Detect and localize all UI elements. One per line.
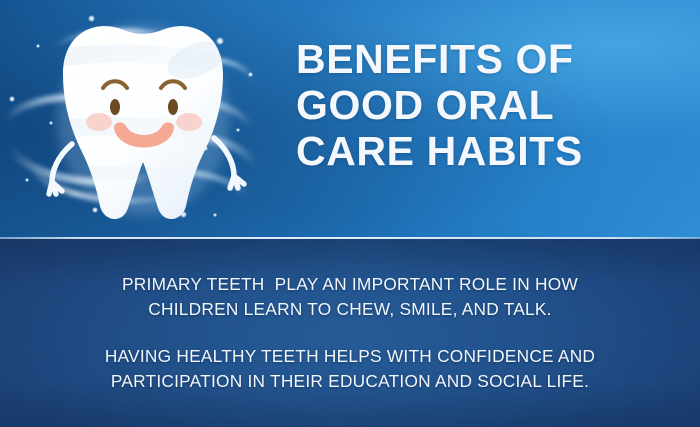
title-line-3: CARE HABITS — [296, 128, 676, 174]
right-eye-icon — [168, 99, 178, 115]
section-divider — [0, 237, 700, 239]
title-line-2: GOOD ORAL — [296, 82, 676, 128]
fact-list: PRIMARY TEETH PLAY AN IMPORTANT ROLE IN … — [0, 239, 700, 427]
tooth-mascot — [18, 10, 268, 238]
right-cheek-blush — [176, 113, 202, 131]
left-eye-icon — [110, 99, 120, 115]
left-cheek-blush — [86, 113, 112, 131]
page-title: BENEFITS OF GOOD ORAL CARE HABITS — [296, 36, 676, 174]
title-line-1: BENEFITS OF — [296, 36, 676, 82]
fact-statement-1: PRIMARY TEETH PLAY AN IMPORTANT ROLE IN … — [30, 272, 670, 322]
fact-statement-2: HAVING HEALTHY TEETH HELPS WITH CONFIDEN… — [30, 344, 670, 394]
smiling-tooth-icon — [18, 10, 268, 238]
oral-care-infographic: BENEFITS OF GOOD ORAL CARE HABITS PRIMAR… — [0, 0, 700, 427]
